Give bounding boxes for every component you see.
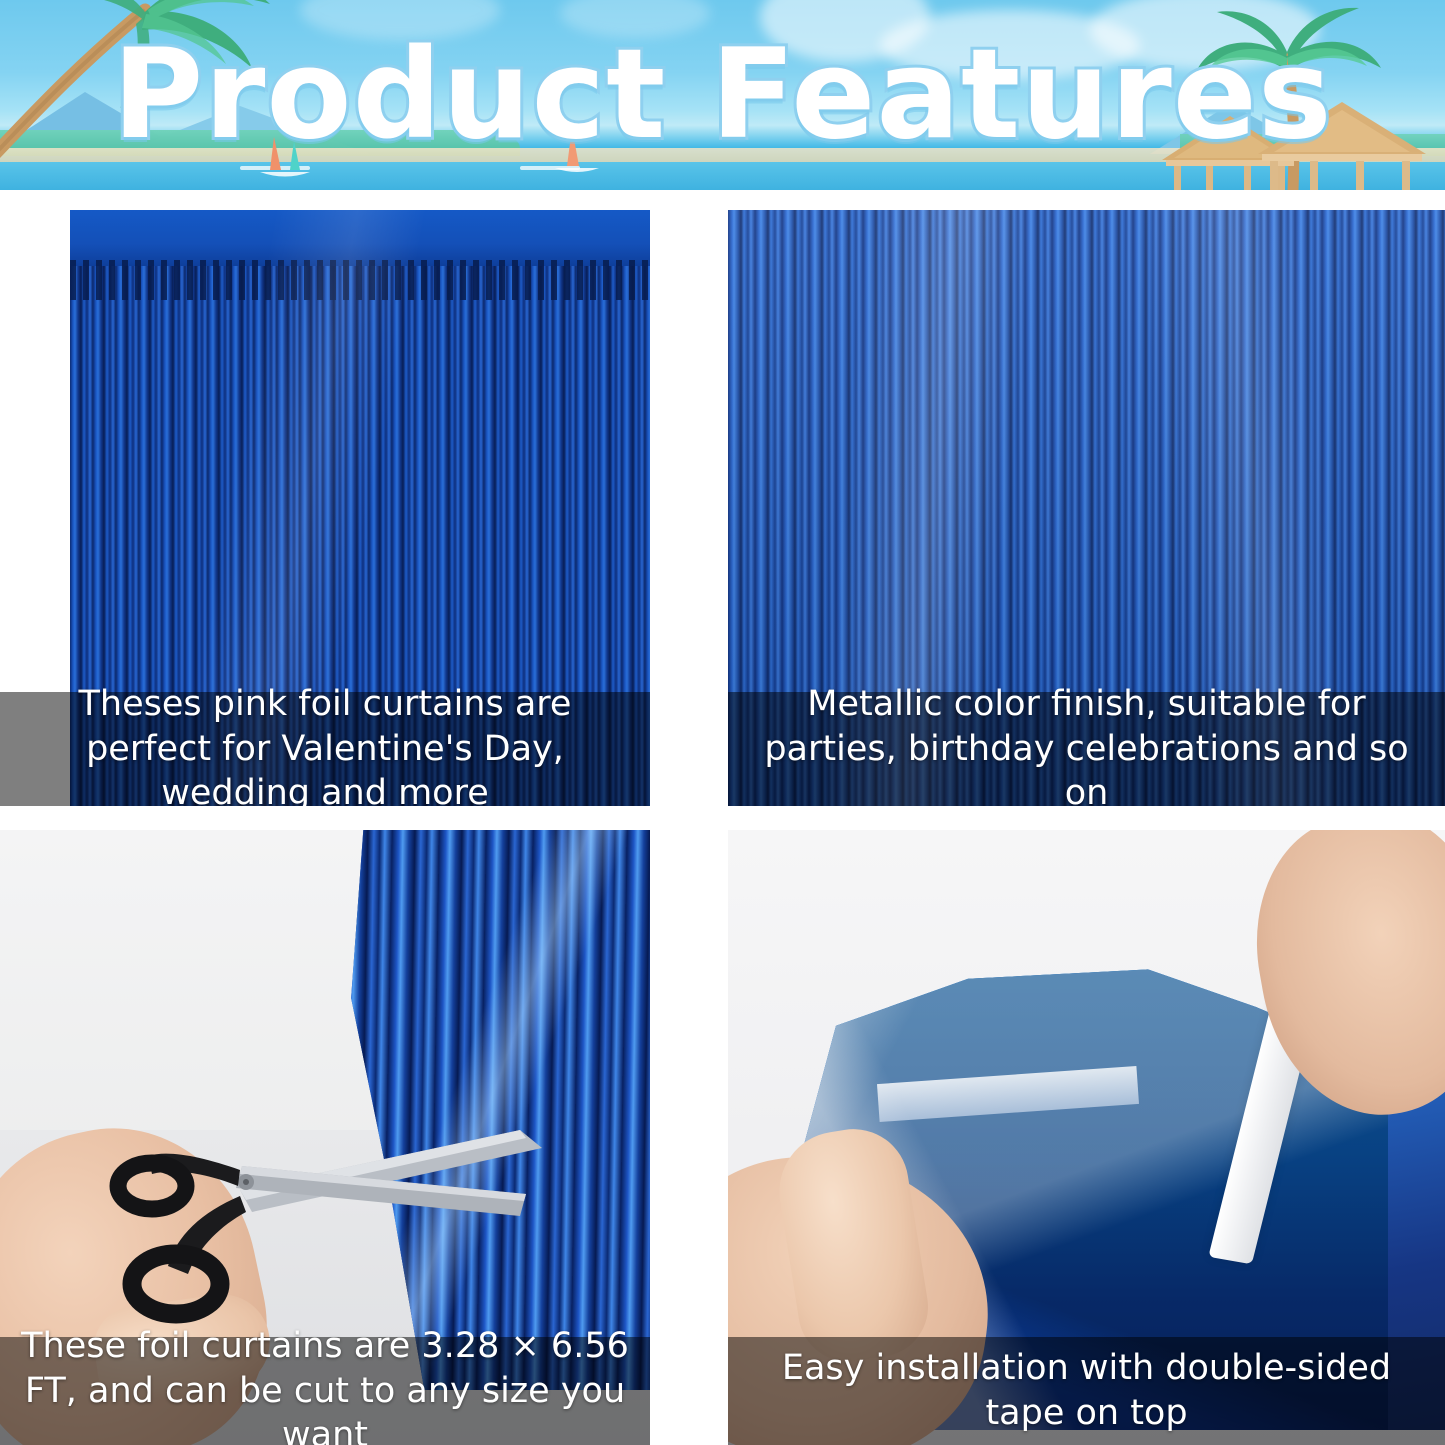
- panel-caption-text: These foil curtains are 3.28 × 6.56 FT, …: [18, 1324, 632, 1445]
- feature-panel-bottom-right: Easy installation with double-sided tape…: [728, 830, 1445, 1445]
- feature-panel-top-left: Theses pink foil curtains are perfect fo…: [0, 210, 650, 806]
- panel-caption: These foil curtains are 3.28 × 6.56 FT, …: [0, 1337, 650, 1445]
- panel-caption: Metallic color finish, suitable for part…: [728, 692, 1445, 806]
- panel-caption: Theses pink foil curtains are perfect fo…: [0, 692, 650, 806]
- product-features-infographic: Product Features Theses pink foil curtai…: [0, 0, 1445, 1445]
- banner-title-wrap: Product Features: [0, 0, 1445, 190]
- panel-caption-text: Easy installation with double-sided tape…: [746, 1346, 1427, 1436]
- feature-grid: Theses pink foil curtains are perfect fo…: [0, 210, 1445, 1445]
- header-banner: Product Features: [0, 0, 1445, 190]
- feature-panel-top-right: Metallic color finish, suitable for part…: [728, 210, 1445, 806]
- panel-caption: Easy installation with double-sided tape…: [728, 1337, 1445, 1445]
- page-title: Product Features: [112, 33, 1332, 157]
- panel-caption-text: Metallic color finish, suitable for part…: [746, 682, 1427, 806]
- panel-caption-text: Theses pink foil curtains are perfect fo…: [18, 682, 632, 806]
- feature-panel-bottom-left: These foil curtains are 3.28 × 6.56 FT, …: [0, 830, 650, 1445]
